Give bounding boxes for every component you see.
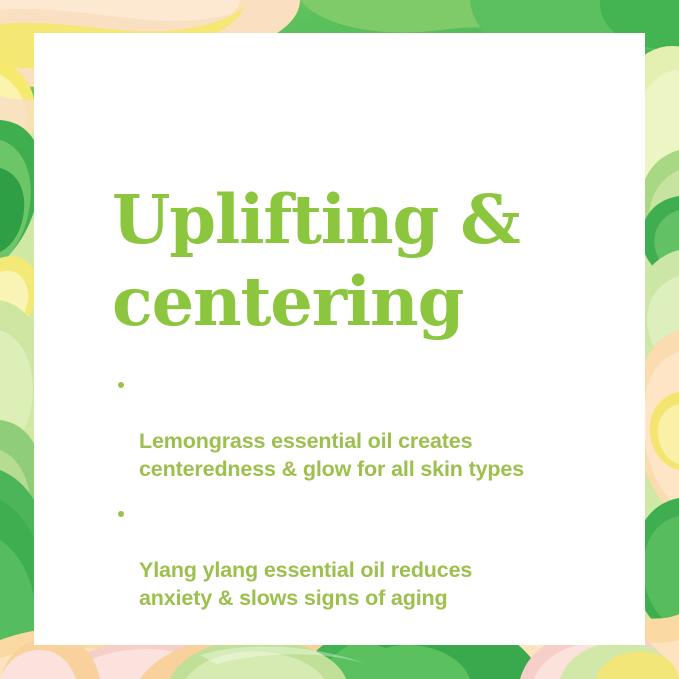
list-item-text: Lemongrass essential oil creates centere… (139, 429, 524, 481)
list-item: Ylang ylang essential oil reduces anxiet… (112, 500, 612, 612)
card-content: Uplifting & centering Lemongrass essenti… (112, 179, 612, 612)
content-card: Uplifting & centering Lemongrass essenti… (34, 33, 645, 645)
benefits-list: Lemongrass essential oil creates centere… (112, 371, 612, 612)
poster-canvas: Uplifting & centering Lemongrass essenti… (0, 0, 679, 679)
bullet-dot-icon (118, 511, 124, 517)
page-title: Uplifting & centering (112, 179, 612, 343)
list-item-text: Ylang ylang essential oil reduces anxiet… (139, 558, 472, 610)
list-item: Lemongrass essential oil creates centere… (112, 371, 612, 483)
bullet-dot-icon (118, 382, 124, 388)
